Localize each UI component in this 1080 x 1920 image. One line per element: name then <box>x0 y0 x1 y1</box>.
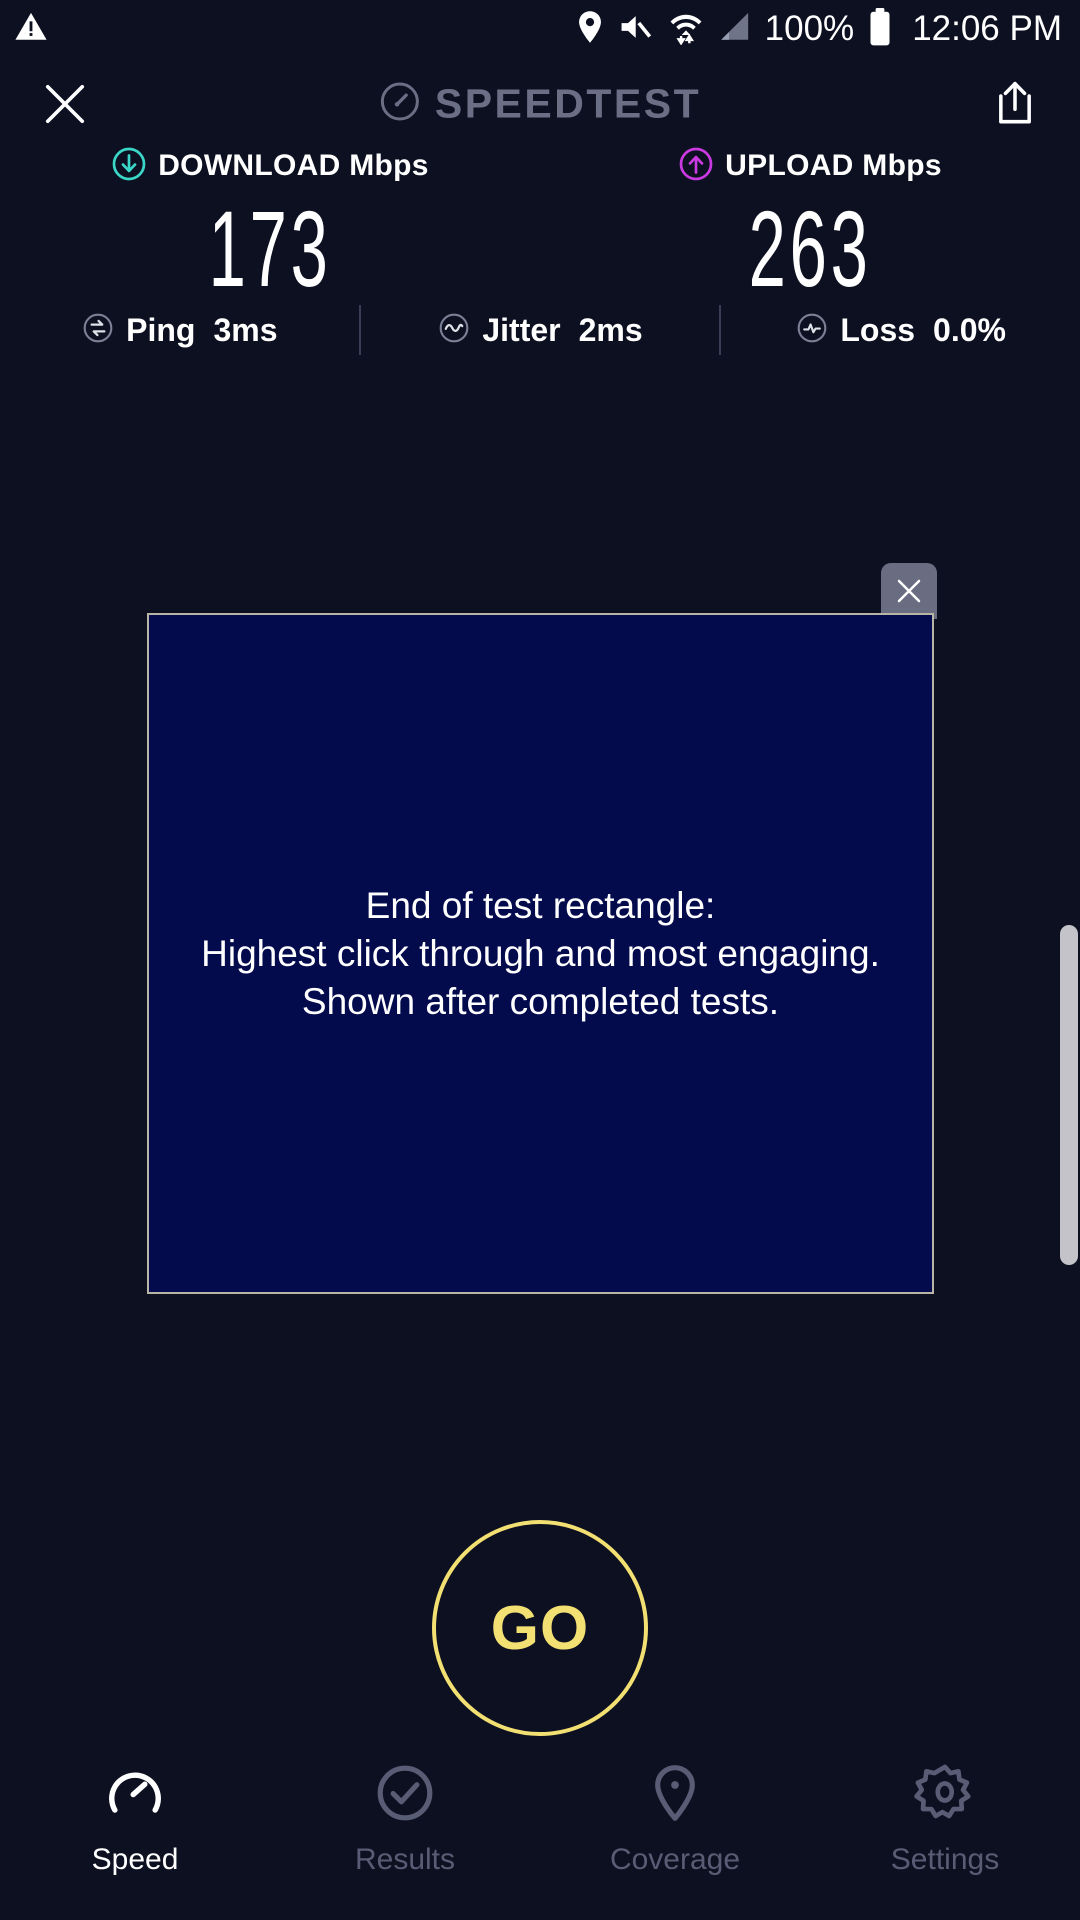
metric-loss: Loss 0.0% <box>721 311 1080 350</box>
battery-percent: 100% <box>765 9 855 49</box>
nav-item-coverage[interactable]: Coverage <box>540 1762 810 1877</box>
results-row: DOWNLOAD Mbps 173 UPLOAD Mbps 263 <box>0 145 1080 305</box>
metric-ping-value: 3ms <box>213 312 277 349</box>
share-button[interactable] <box>986 75 1044 133</box>
download-label: DOWNLOAD Mbps <box>158 149 429 183</box>
nav-label-speed: Speed <box>92 1843 179 1877</box>
upload-value: 263 <box>749 193 872 305</box>
go-button[interactable]: GO <box>432 1520 648 1736</box>
download-value: 173 <box>209 193 332 305</box>
volume-muted-icon <box>619 10 655 49</box>
upload-label: UPLOAD Mbps <box>725 149 942 183</box>
nav-item-settings[interactable]: Settings <box>810 1762 1080 1877</box>
metric-jitter-label: Jitter <box>482 312 560 349</box>
app-header: SPEEDTEST <box>0 58 1080 150</box>
warning-triangle-icon <box>14 10 48 49</box>
download-result: DOWNLOAD Mbps 173 <box>0 145 540 305</box>
status-bar-right: 100% 12:06 PM <box>575 8 1062 51</box>
metrics-row: Ping 3ms Jitter 2ms Loss 0.0% <box>0 300 1080 360</box>
check-circle-icon <box>374 1762 436 1829</box>
nav-label-coverage: Coverage <box>610 1843 740 1877</box>
bottom-navigation: Speed Results Coverage Settings <box>0 1750 1080 1920</box>
ad-close-icon <box>894 576 924 606</box>
vertical-scrollbar-thumb[interactable] <box>1060 925 1078 1265</box>
metric-jitter: Jitter 2ms <box>361 311 720 350</box>
upload-arrow-icon <box>678 146 714 187</box>
speedometer-logo-icon <box>379 81 421 128</box>
status-bar-left <box>14 10 48 49</box>
ping-icon <box>81 311 115 350</box>
test-results: DOWNLOAD Mbps 173 UPLOAD Mbps 263 <box>0 145 1080 305</box>
wifi-icon <box>669 9 703 50</box>
map-pin-icon <box>644 1762 706 1829</box>
battery-full-icon <box>868 8 892 51</box>
signal-bars-icon <box>717 10 751 49</box>
metric-loss-label: Loss <box>840 312 915 349</box>
metric-ping-label: Ping <box>126 312 195 349</box>
nav-item-speed[interactable]: Speed <box>0 1762 270 1877</box>
nav-label-settings: Settings <box>891 1843 999 1877</box>
ad-text: End of test rectangle: Highest click thr… <box>149 882 932 1026</box>
metric-jitter-value: 2ms <box>579 312 643 349</box>
download-label-row: DOWNLOAD Mbps <box>111 145 429 187</box>
close-icon <box>42 81 88 127</box>
ad-line-3: Shown after completed tests. <box>159 978 922 1026</box>
loss-icon <box>795 311 829 350</box>
upload-result: UPLOAD Mbps 263 <box>540 145 1080 305</box>
nav-label-results: Results <box>355 1843 455 1877</box>
advertisement-banner[interactable]: End of test rectangle: Highest click thr… <box>147 613 934 1294</box>
gear-icon <box>914 1762 976 1829</box>
clock-time: 12:06 PM <box>912 9 1062 49</box>
ad-line-2: Highest click through and most engaging. <box>159 930 922 978</box>
brand-logo: SPEEDTEST <box>379 81 701 128</box>
nav-item-results[interactable]: Results <box>270 1762 540 1877</box>
ad-close-button[interactable] <box>881 563 937 619</box>
close-button[interactable] <box>36 75 94 133</box>
metric-loss-value: 0.0% <box>933 312 1006 349</box>
status-bar: 100% 12:06 PM <box>0 0 1080 58</box>
download-arrow-icon <box>111 146 147 187</box>
go-button-label: GO <box>491 1593 589 1664</box>
jitter-icon <box>437 311 471 350</box>
speedometer-icon <box>104 1762 166 1829</box>
share-icon <box>993 81 1037 127</box>
location-pin-icon <box>575 10 605 49</box>
metric-ping: Ping 3ms <box>0 311 359 350</box>
ad-line-1: End of test rectangle: <box>159 882 922 930</box>
brand-title: SPEEDTEST <box>435 81 701 128</box>
upload-label-row: UPLOAD Mbps <box>678 145 942 187</box>
